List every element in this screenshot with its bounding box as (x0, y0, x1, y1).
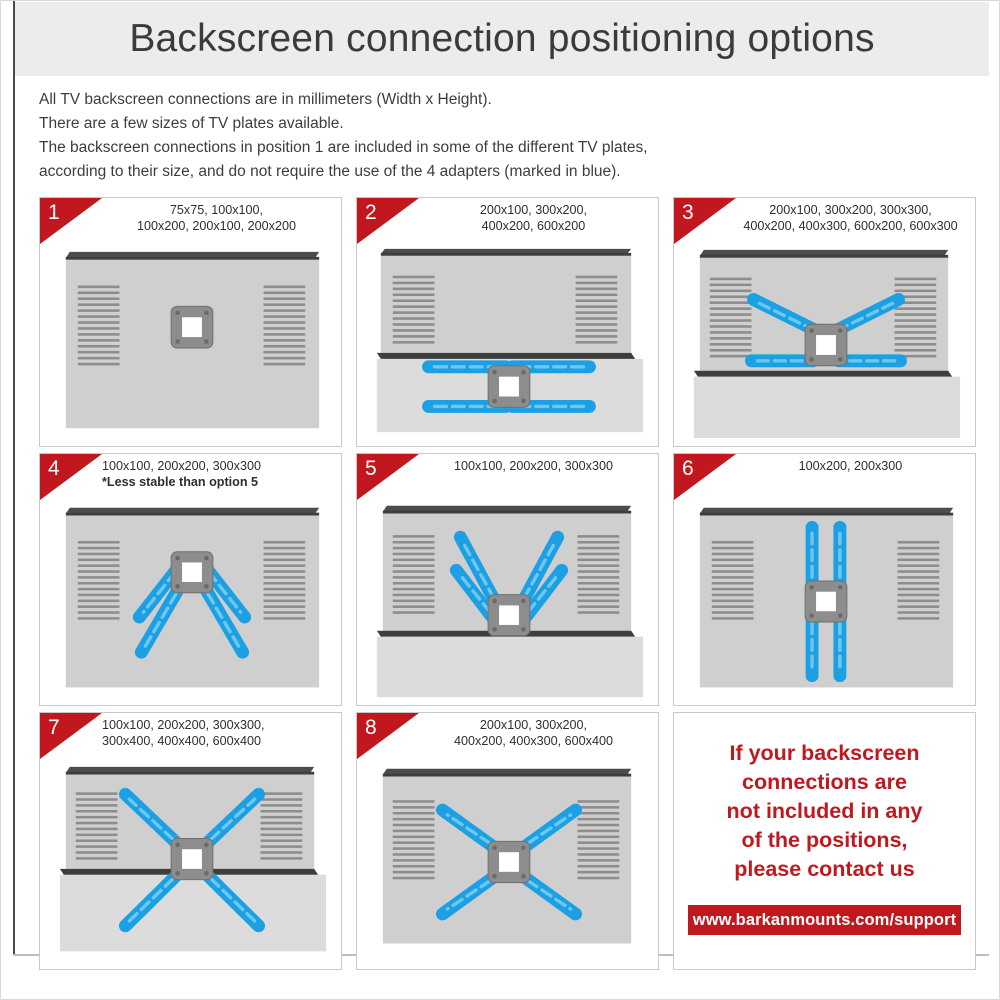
position-number: 6 (682, 456, 694, 482)
position-number: 7 (48, 715, 60, 741)
caption-line-1: 200x100, 300x200, (480, 718, 587, 732)
position-number: 8 (365, 715, 377, 741)
intro-line-4: according to their size, and do not requ… (39, 161, 969, 182)
panel-caption: 100x100, 200x200, 300x300 *Less stable t… (102, 458, 335, 490)
tv-diagram (357, 242, 658, 446)
tv-diagram (40, 242, 341, 446)
position-panel-5[interactable]: 5 100x100, 200x200, 300x300 (356, 453, 659, 706)
caption-line-1: 200x100, 300x200, (480, 203, 587, 217)
intro-line-2: There are a few sizes of TV plates avail… (39, 113, 969, 134)
position-number: 3 (682, 200, 694, 226)
contact-panel: If your backscreen connections are not i… (673, 712, 976, 970)
position-number-badge: 4 (40, 454, 102, 500)
caption-line-1: 100x100, 200x200, 300x300 (454, 459, 613, 473)
page-title: Backscreen connection positioning option… (129, 17, 874, 61)
position-number: 1 (48, 200, 60, 226)
panel-caption: 200x100, 300x200, 300x300, 400x200, 400x… (732, 202, 969, 234)
position-panel-2[interactable]: 2 200x100, 300x200, 400x200, 600x200 (356, 197, 659, 447)
caption-line-1: 100x100, 200x200, 300x300, (102, 718, 264, 732)
caption-line-2: 400x200, 600x200 (482, 219, 586, 233)
intro-line-3: The backscreen connections in position 1… (39, 137, 969, 158)
support-url-button[interactable]: www.barkanmounts.com/support (688, 905, 961, 935)
panel-caption: 100x100, 200x200, 300x300, 300x400, 400x… (102, 717, 335, 749)
contact-message-line-2: connections are (680, 768, 969, 797)
position-number-badge: 6 (674, 454, 736, 500)
position-number: 5 (365, 456, 377, 482)
position-number: 4 (48, 456, 60, 482)
position-panel-1[interactable]: 1 75x75, 100x100, 100x200, 200x100, 200x… (39, 197, 342, 447)
contact-message-line-1: If your backscreen (680, 739, 969, 768)
intro-text-block: All TV backscreen connections are in mil… (39, 89, 969, 185)
position-number: 2 (365, 200, 377, 226)
tv-diagram (357, 498, 658, 705)
tv-diagram (674, 242, 975, 446)
caption-line-2: 400x200, 400x300, 600x400 (454, 734, 613, 748)
position-panel-6[interactable]: 6 100x200, 200x300 (673, 453, 976, 706)
caption-line-2: 400x200, 400x300, 600x200, 600x300 (743, 219, 957, 233)
infographic-page: Backscreen connection positioning option… (0, 0, 1000, 1000)
caption-line-2: 100x200, 200x100, 200x200 (137, 219, 296, 233)
intro-line-1: All TV backscreen connections are in mil… (39, 89, 969, 110)
contact-message-line-4: of the positions, (680, 826, 969, 855)
position-number-badge: 8 (357, 713, 419, 759)
tv-diagram (40, 757, 341, 969)
panel-caption: 100x200, 200x300 (732, 458, 969, 474)
position-panel-3[interactable]: 3 200x100, 300x200, 300x300, 400x200, 40… (673, 197, 976, 447)
support-url-text: www.barkanmounts.com/support (693, 911, 956, 930)
position-number-badge: 7 (40, 713, 102, 759)
caption-line-1: 100x200, 200x300 (799, 459, 903, 473)
contact-message-line-3: not included in any (680, 797, 969, 826)
position-number-badge: 1 (40, 198, 102, 244)
panel-caption: 200x100, 300x200, 400x200, 600x200 (415, 202, 652, 234)
caption-line-1: 75x75, 100x100, (170, 203, 263, 217)
caption-line-1: 200x100, 300x200, 300x300, (769, 203, 931, 217)
contact-message-line-5: please contact us (680, 855, 969, 884)
page-header: Backscreen connection positioning option… (15, 2, 989, 76)
position-number-badge: 2 (357, 198, 419, 244)
caption-note: *Less stable than option 5 (102, 474, 335, 490)
position-number-badge: 5 (357, 454, 419, 500)
panel-caption: 100x100, 200x200, 300x300 (415, 458, 652, 474)
panel-caption: 200x100, 300x200, 400x200, 400x300, 600x… (415, 717, 652, 749)
contact-message: If your backscreen connections are not i… (674, 739, 975, 884)
tv-diagram (40, 498, 341, 705)
left-rail-divider (13, 1, 15, 956)
tv-diagram (674, 498, 975, 705)
caption-line-2: 300x400, 400x400, 600x400 (102, 734, 261, 748)
position-number-badge: 3 (674, 198, 736, 244)
positions-grid: 1 75x75, 100x100, 100x200, 200x100, 200x… (39, 197, 977, 977)
caption-line-1: 100x100, 200x200, 300x300 (102, 459, 261, 473)
position-panel-7[interactable]: 7 100x100, 200x200, 300x300, 300x400, 40… (39, 712, 342, 970)
position-panel-4[interactable]: 4 100x100, 200x200, 300x300 *Less stable… (39, 453, 342, 706)
position-panel-8[interactable]: 8 200x100, 300x200, 400x200, 400x300, 60… (356, 712, 659, 970)
tv-diagram (357, 757, 658, 969)
panel-caption: 75x75, 100x100, 100x200, 200x100, 200x20… (98, 202, 335, 234)
